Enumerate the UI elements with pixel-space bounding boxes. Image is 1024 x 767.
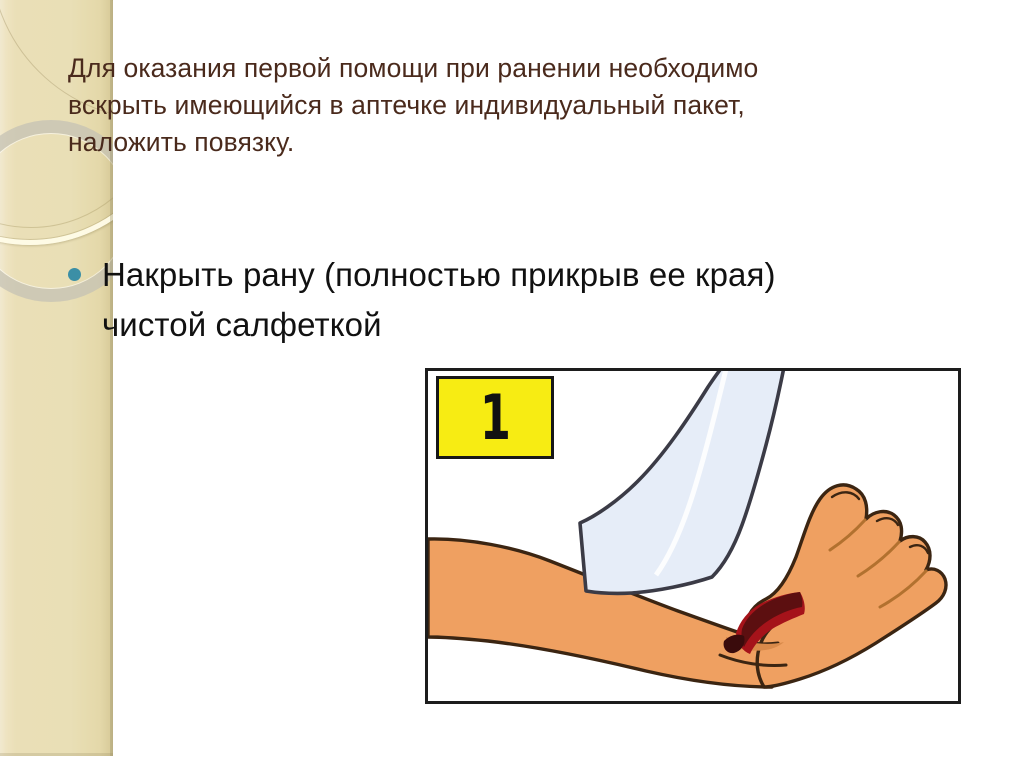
- title-line-3: наложить повязку.: [68, 124, 928, 161]
- band-bottom-edge: [0, 753, 113, 756]
- bullet-list-item: Накрыть рану (полностью прикрыв ее края)…: [68, 250, 968, 350]
- foot-shape: [746, 485, 946, 687]
- bullet-marker-icon: [68, 268, 81, 281]
- illustration-figure: 1: [425, 368, 961, 704]
- bullet-line-1: Накрыть рану (полностью прикрыв ее края): [102, 250, 776, 300]
- title-line-1: Для оказания первой помощи при ранении н…: [68, 50, 928, 87]
- bullet-line-2: чистой салфеткой: [102, 300, 776, 350]
- step-number-label: 1: [479, 387, 510, 449]
- bullet-item-text: Накрыть рану (полностью прикрыв ее края)…: [102, 250, 776, 350]
- slide: Для оказания первой помощи при ранении н…: [0, 0, 1024, 767]
- step-number-badge: 1: [436, 376, 554, 459]
- title-line-2: вскрыть имеющийся в аптечке индивидуальн…: [68, 87, 928, 124]
- slide-title-paragraph: Для оказания первой помощи при ранении н…: [68, 50, 928, 161]
- gauze-napkin: [580, 371, 784, 593]
